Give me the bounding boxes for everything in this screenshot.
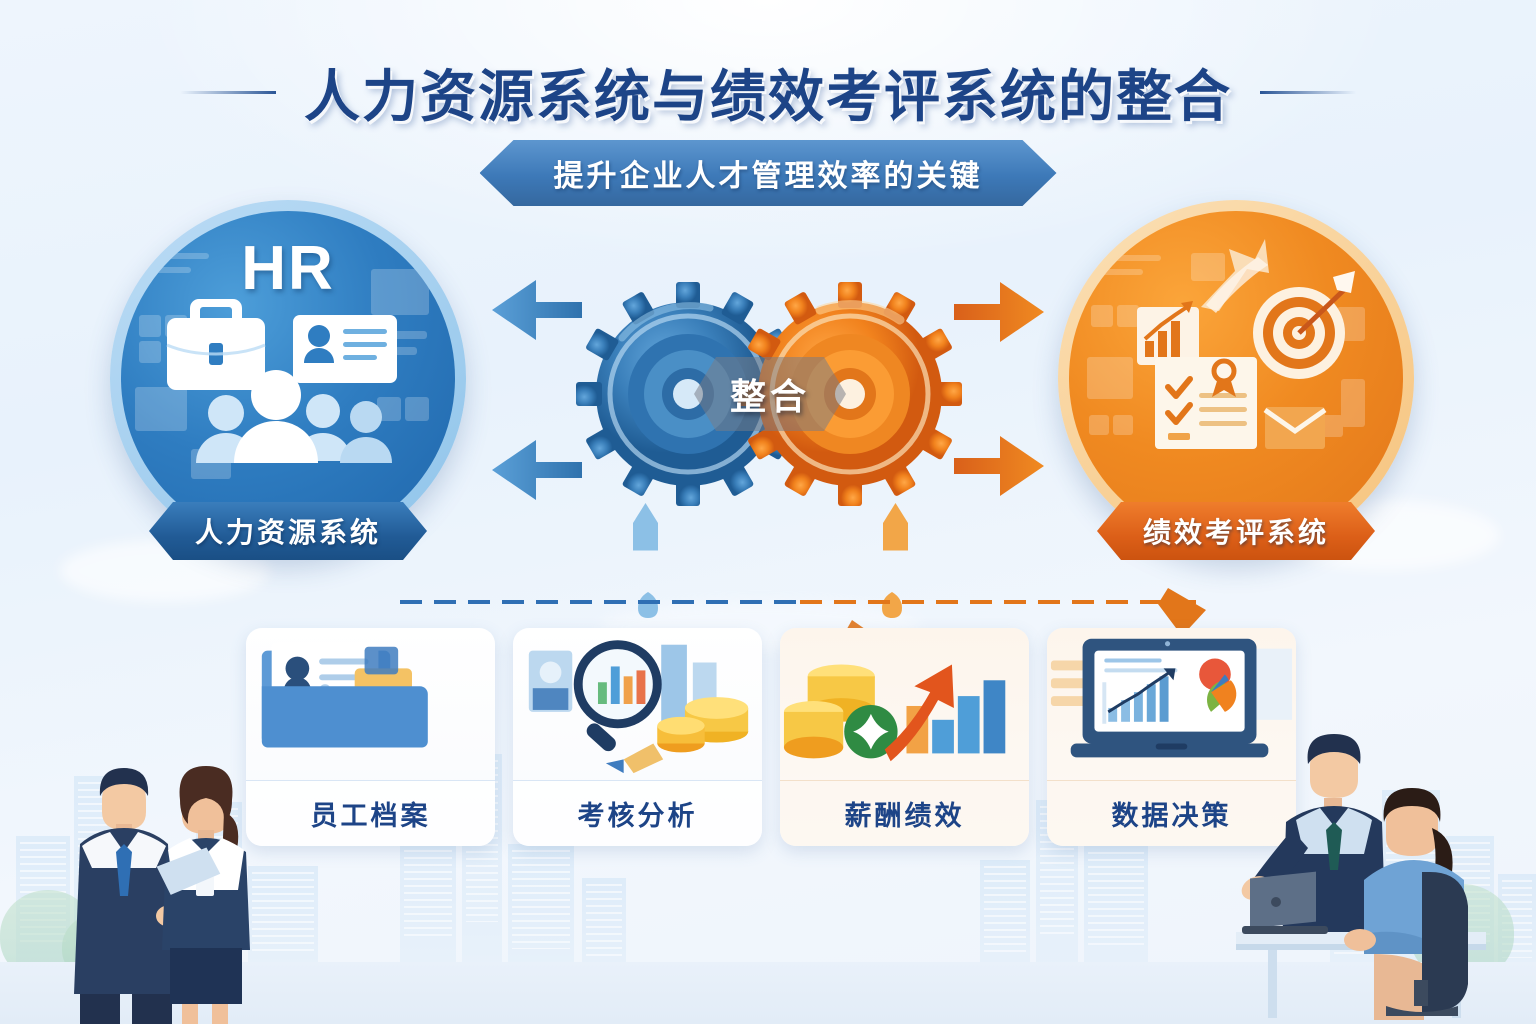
perf-icon-group [1069, 211, 1403, 545]
subtitle-wrap: 提升企业人才管理效率的关键 [0, 140, 1536, 206]
hr-icon-group [121, 211, 455, 545]
people-illustration-right [1236, 694, 1536, 1024]
page-title: 人力资源系统与绩效考评系统的整合 [304, 52, 1232, 133]
people-illustration-left [40, 704, 310, 1024]
title-rule-right [1260, 91, 1356, 94]
divider-orange-half [800, 600, 1200, 604]
integration-gears[interactable]: 整合 [560, 268, 980, 520]
bar-chart-icon [1137, 301, 1199, 365]
envelope-icon [1265, 407, 1325, 449]
briefcase-icon [164, 299, 265, 390]
title-row: 人力资源系统与绩效考评系统的整合 [0, 52, 1536, 133]
integration-label: 整合 [694, 357, 846, 431]
perf-node-disc [1069, 211, 1403, 545]
coins-growth-icon [780, 628, 1029, 780]
id-card-icon [293, 315, 397, 383]
feature-card-label: 薪酬绩效 [780, 780, 1029, 846]
divider-blue-half [400, 600, 800, 604]
feature-card[interactable]: 薪酬绩效 [780, 628, 1029, 846]
magnifier-chart-icon [513, 628, 762, 780]
feature-card-label: 考核分析 [513, 780, 762, 846]
header: 人力资源系统与绩效考评系统的整合 提升企业人才管理效率的关键 [0, 0, 1536, 210]
performance-system-node[interactable]: 绩效考评系统 [1058, 200, 1414, 556]
checklist-icon [1155, 357, 1257, 449]
target-bullseye-icon [1253, 271, 1355, 379]
hr-node-ribbon: 人力资源系统 [149, 502, 427, 560]
section-divider [400, 600, 1200, 604]
growth-arrow-icon [1201, 239, 1269, 313]
subtitle-banner: 提升企业人才管理效率的关键 [480, 140, 1057, 206]
perf-node-ribbon: 绩效考评系统 [1097, 502, 1375, 560]
feature-card-row: 员工档案 [246, 628, 1296, 848]
feature-card[interactable]: 考核分析 [513, 628, 762, 846]
title-rule-left [180, 91, 276, 94]
hr-node-disc: HR [121, 211, 455, 545]
hr-system-node[interactable]: HR [110, 200, 466, 556]
